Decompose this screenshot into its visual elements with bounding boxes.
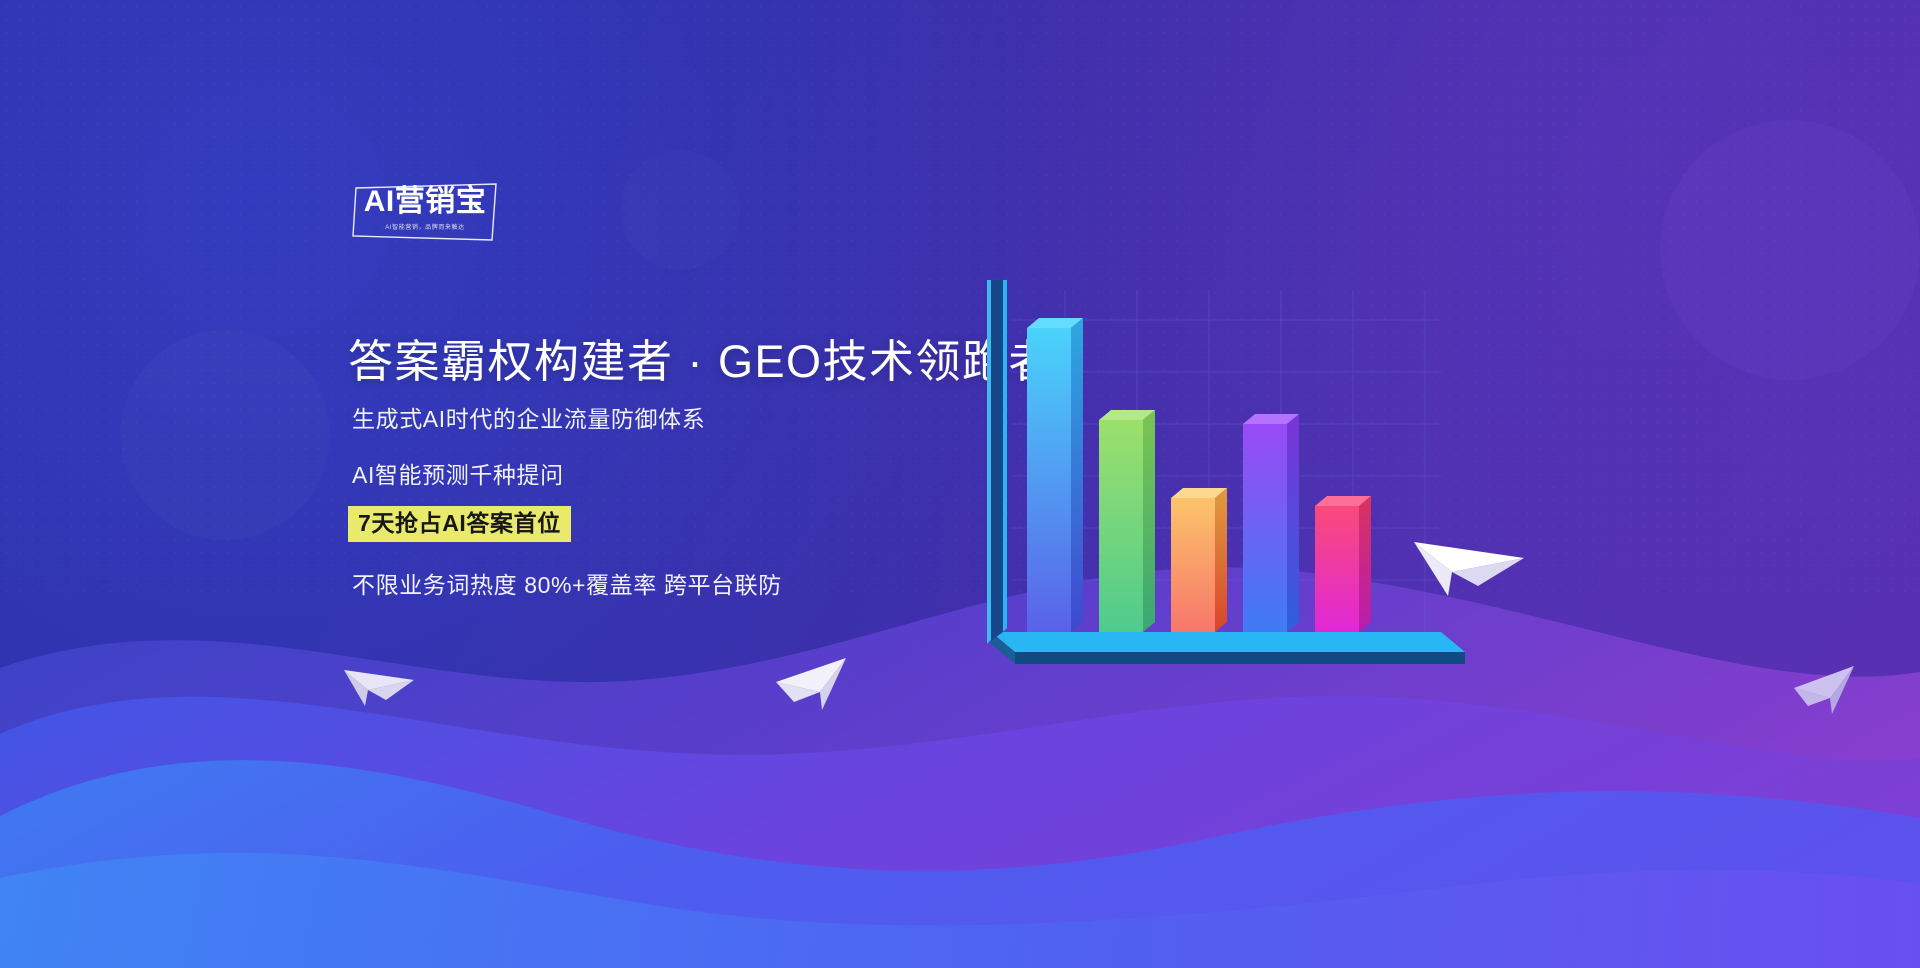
page-title: 答案霸权构建者 · GEO技术领跑者: [348, 325, 1055, 390]
logo[interactable]: AI营销宝 AI智能营销，品牌而来触达: [352, 182, 498, 244]
hero-banner: AI营销宝 AI智能营销，品牌而来触达 答案霸权构建者 · GEO技术领跑者 生…: [0, 0, 1920, 968]
logo-text: AI营销宝: [352, 187, 498, 217]
chart-bar: [1027, 318, 1083, 632]
decor-circle: [1660, 120, 1920, 380]
paper-plane-icon: [1786, 660, 1858, 718]
chart-base: [991, 632, 1465, 664]
hero-subline-2: AI智能预测千种提问: [352, 456, 564, 490]
hero-subline-4: 不限业务词热度 80%+覆盖率 跨平台联防: [352, 566, 782, 600]
chart-bar: [1099, 410, 1155, 632]
paper-plane-icon: [1408, 512, 1528, 604]
logo-tagline: AI智能营销，品牌而来触达: [352, 222, 498, 231]
hero-highlight-badge: 7天抢占AI答案首位: [348, 506, 571, 542]
hero-highlight-wrapper: 7天抢占AI答案首位: [348, 506, 571, 542]
chart-y-axis: [987, 280, 1007, 644]
hero-subline-1: 生成式AI时代的企业流量防御体系: [352, 400, 705, 434]
bar-chart: [965, 280, 1475, 680]
chart-bar: [1243, 414, 1299, 632]
decor-circle: [120, 330, 330, 540]
paper-plane-icon: [764, 648, 850, 718]
decor-circle: [620, 150, 740, 270]
wave-decoration: [0, 548, 1920, 968]
paper-plane-icon: [340, 650, 418, 712]
chart-bar: [1171, 488, 1227, 632]
chart-bar: [1315, 496, 1371, 632]
